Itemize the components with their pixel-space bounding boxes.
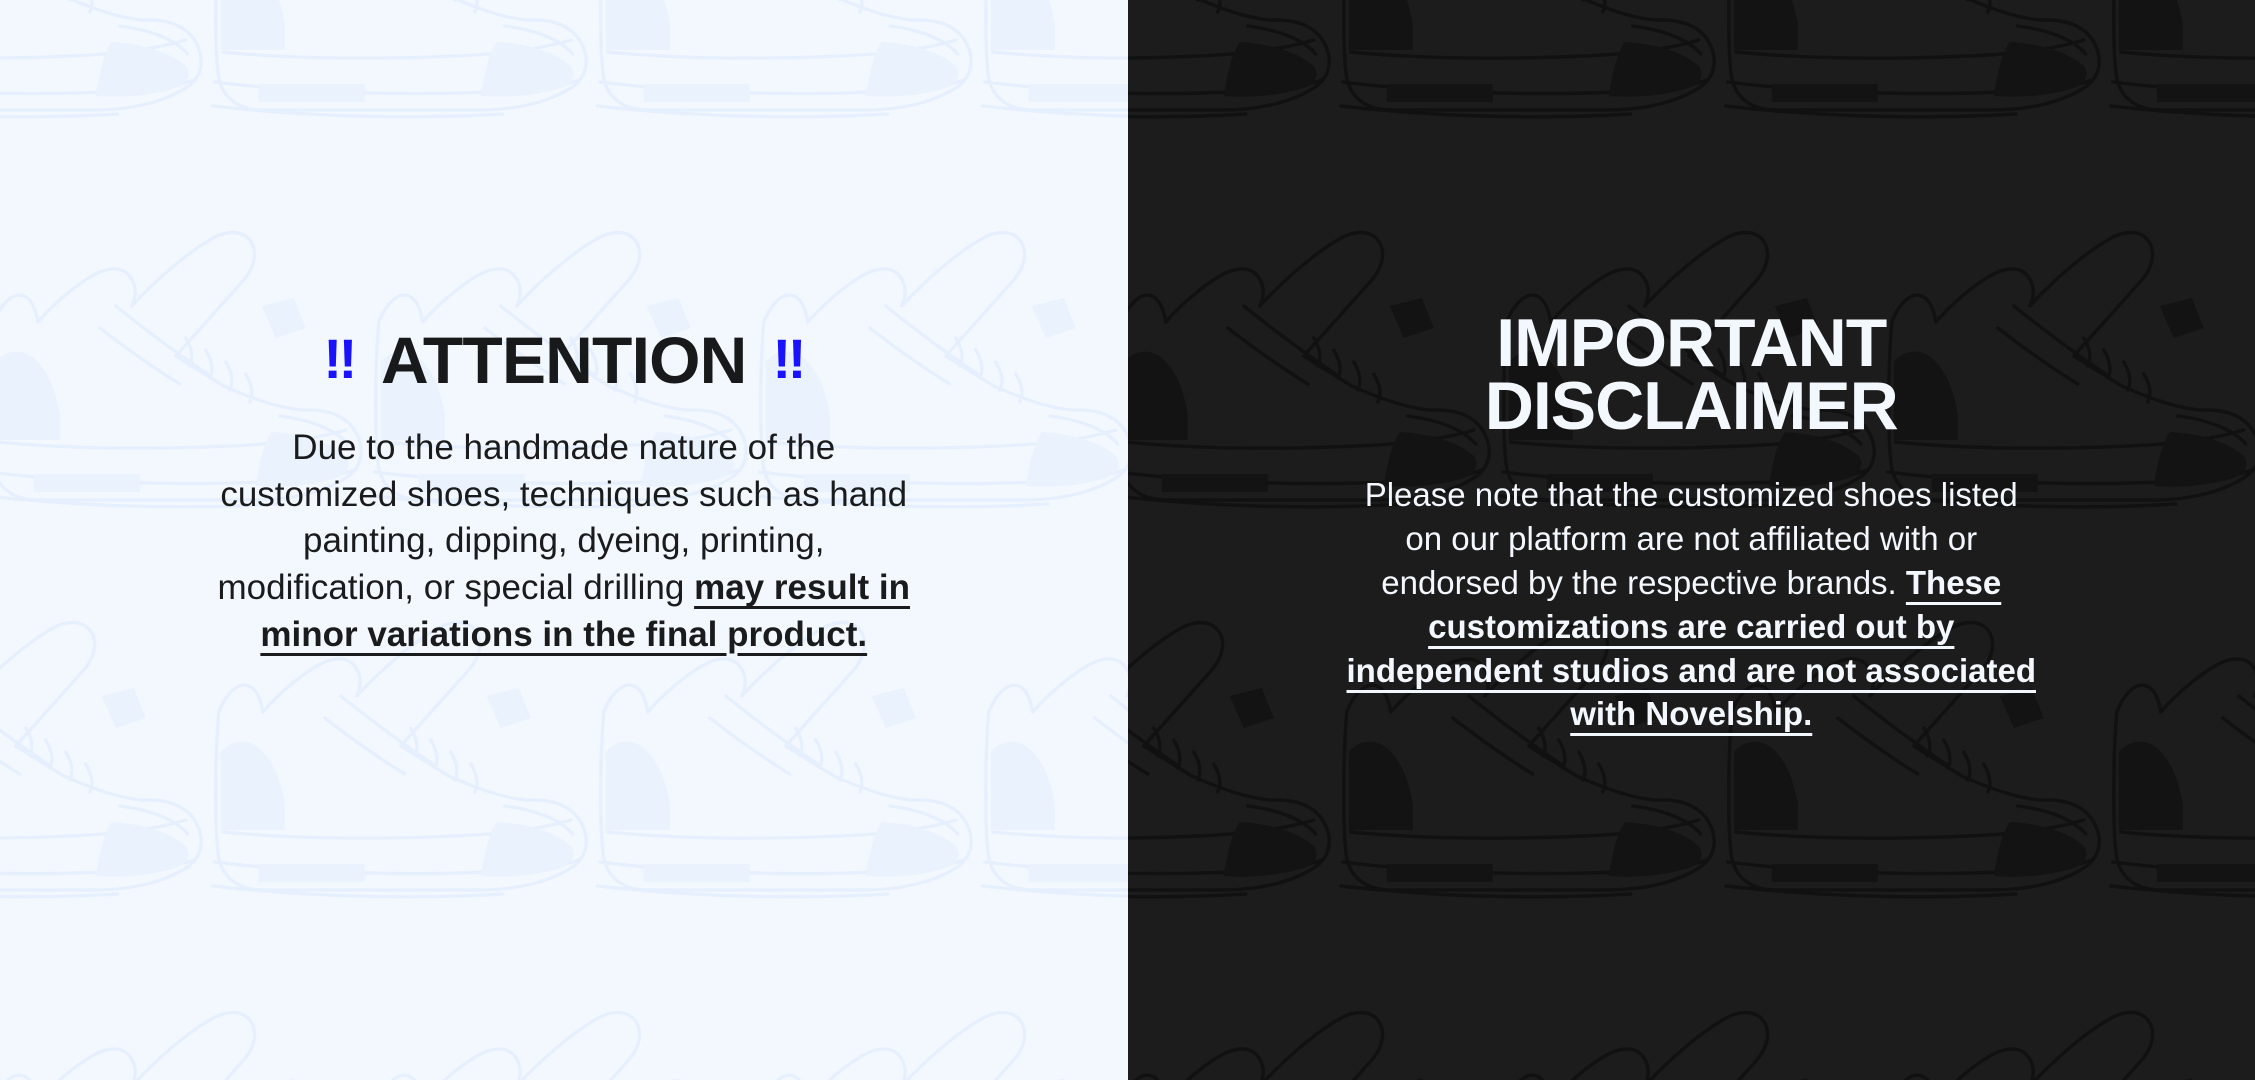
disclaimer-panel: IMPORTANT DISCLAIMER Please note that th… [1128, 0, 2255, 1080]
attention-heading-text: ATTENTION [381, 330, 747, 391]
double-exclamation-left-icon: ‼ [323, 333, 355, 385]
disclaimer-banner: ‼ ATTENTION ‼ Due to the handmade nature… [0, 0, 2255, 1080]
attention-content: ‼ ATTENTION ‼ Due to the handmade nature… [0, 0, 1128, 658]
disclaimer-body: Please note that the customized shoes li… [1346, 473, 2036, 736]
attention-body: Due to the handmade nature of the custom… [214, 425, 914, 658]
disclaimer-heading-line-2: DISCLAIMER [1485, 368, 1898, 444]
disclaimer-heading: IMPORTANT DISCLAIMER [1485, 312, 1898, 437]
double-exclamation-right-icon: ‼ [773, 333, 805, 385]
attention-panel: ‼ ATTENTION ‼ Due to the handmade nature… [0, 0, 1128, 1080]
attention-heading: ‼ ATTENTION ‼ [323, 330, 804, 391]
disclaimer-content: IMPORTANT DISCLAIMER Please note that th… [1128, 0, 2255, 736]
